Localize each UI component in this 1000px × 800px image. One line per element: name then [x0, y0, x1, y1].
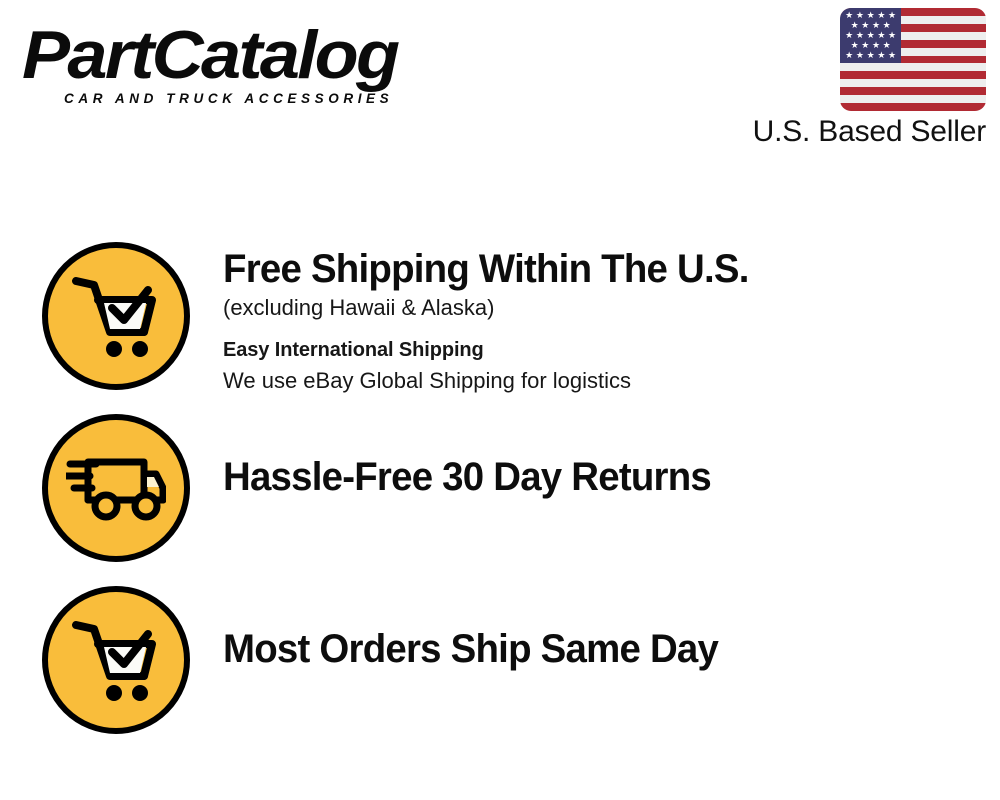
feature-headline: Hassle-Free 30 Day Returns	[223, 456, 950, 499]
feature-row-same-day-ship: Most Orders Ship Same Day	[0, 586, 1000, 746]
us-based-seller-badge: ★★★★★ ★★★★ ★★★★★ ★★★★ ★★★★★ U.S. Based S…	[753, 8, 986, 148]
feature-sub-text: We use eBay Global Shipping for logistic…	[223, 366, 980, 396]
cart-check-icon	[42, 242, 190, 390]
feature-text-block: Hassle-Free 30 Day Returns	[223, 456, 980, 499]
feature-row-free-shipping: Free Shipping Within The U.S. (excluding…	[0, 242, 1000, 412]
feature-note: (excluding Hawaii & Alaska)	[223, 293, 980, 323]
feature-headline: Free Shipping Within The U.S.	[223, 248, 950, 291]
feature-sub-heading: Easy International Shipping	[223, 337, 980, 364]
cart-check-icon	[42, 586, 190, 734]
banner-header: PartCatalog CAR AND TRUCK ACCESSORIES ★★…	[0, 0, 1000, 170]
feature-text-block: Free Shipping Within The U.S. (excluding…	[223, 248, 980, 396]
seller-badge-label: U.S. Based Seller	[753, 115, 986, 148]
feature-headline: Most Orders Ship Same Day	[223, 628, 950, 671]
us-flag-icon: ★★★★★ ★★★★ ★★★★★ ★★★★ ★★★★★	[840, 8, 986, 111]
brand-logo: PartCatalog CAR AND TRUCK ACCESSORIES	[22, 22, 492, 106]
brand-wordmark: PartCatalog	[22, 22, 520, 89]
feature-row-returns: Hassle-Free 30 Day Returns	[0, 414, 1000, 574]
delivery-truck-icon	[42, 414, 190, 562]
feature-text-block: Most Orders Ship Same Day	[223, 628, 980, 671]
